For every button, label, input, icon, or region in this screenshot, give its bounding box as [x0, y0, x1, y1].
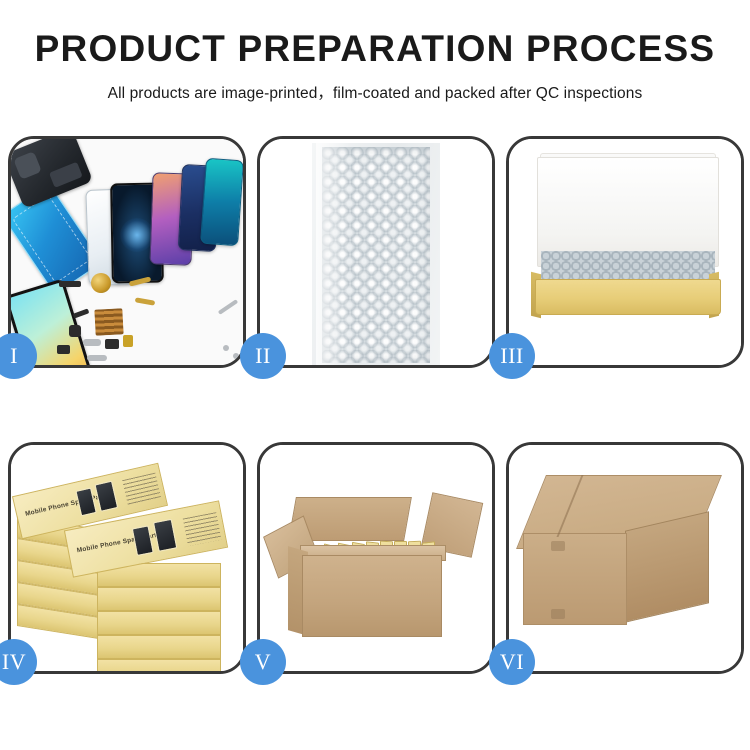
part-connector	[59, 281, 81, 287]
sealed-carton-scene	[509, 445, 741, 671]
inner-box-scene	[509, 139, 741, 365]
step-badge-5: V	[240, 639, 286, 685]
part-taptic	[57, 345, 70, 354]
part-bracket	[83, 339, 101, 346]
page-subtitle: All products are image-printed，film-coat…	[0, 81, 750, 103]
step-4-image: Mobile Phone Spare Parts Mobile Phone Sp…	[11, 445, 243, 671]
part-screw-strip	[87, 355, 107, 361]
process-step-5: V	[257, 442, 495, 674]
box-spec-text	[183, 512, 222, 546]
phone-teal-icon	[200, 158, 243, 246]
stacked-box	[97, 587, 221, 611]
carton-front	[302, 555, 442, 637]
box-screen-print	[153, 519, 177, 552]
box-screen-print	[75, 487, 96, 516]
carton-hand-hole	[551, 541, 565, 551]
step-5-image	[260, 445, 492, 671]
step-3-image	[509, 139, 741, 365]
part-screw	[223, 345, 229, 351]
box-screen-print	[94, 481, 118, 512]
part-button	[69, 325, 81, 337]
box-yellow-front	[535, 279, 721, 315]
carton-hand-hole	[551, 609, 565, 619]
stacked-box	[97, 611, 221, 635]
part-camera	[105, 339, 119, 349]
box-spec-text	[122, 473, 161, 506]
step-1-image	[11, 139, 243, 365]
process-step-3: III	[506, 136, 744, 368]
process-step-4: Mobile Phone Spare Parts Mobile Phone Sp…	[8, 442, 246, 674]
product-preparation-infographic: PRODUCT PREPARATION PROCESS All products…	[0, 0, 750, 750]
speaker-coil-icon	[91, 273, 111, 293]
carton-front-face	[523, 533, 627, 625]
stacked-box	[97, 659, 221, 671]
process-step-2: II	[257, 136, 495, 368]
part-sim-tray	[123, 335, 133, 347]
carton-filling-scene	[260, 445, 492, 671]
part-antenna	[218, 299, 238, 315]
stacked-box	[97, 635, 221, 659]
box-screen-print	[132, 525, 154, 556]
wrap-highlight	[316, 139, 350, 365]
header: PRODUCT PREPARATION PROCESS All products…	[0, 0, 750, 103]
chip-grid-icon	[94, 308, 123, 335]
part-flex-cable	[135, 297, 156, 305]
step-badge-6: VI	[489, 639, 535, 685]
carton-right-face	[625, 511, 709, 622]
box-stack-scene: Mobile Phone Spare Parts Mobile Phone Sp…	[11, 445, 243, 671]
step-2-image	[260, 139, 492, 365]
process-step-6: VI	[506, 442, 744, 674]
page-title: PRODUCT PREPARATION PROCESS	[0, 30, 750, 69]
process-grid: I II	[8, 136, 744, 674]
part-screw	[233, 353, 239, 359]
step-badge-2: II	[240, 333, 286, 379]
step-badge-3: III	[489, 333, 535, 379]
part-small-strip	[73, 308, 90, 318]
phone-parts-scene	[11, 139, 243, 365]
step-6-image	[509, 445, 741, 671]
process-step-1: I	[8, 136, 246, 368]
bubble-wrap-scene	[260, 139, 492, 365]
